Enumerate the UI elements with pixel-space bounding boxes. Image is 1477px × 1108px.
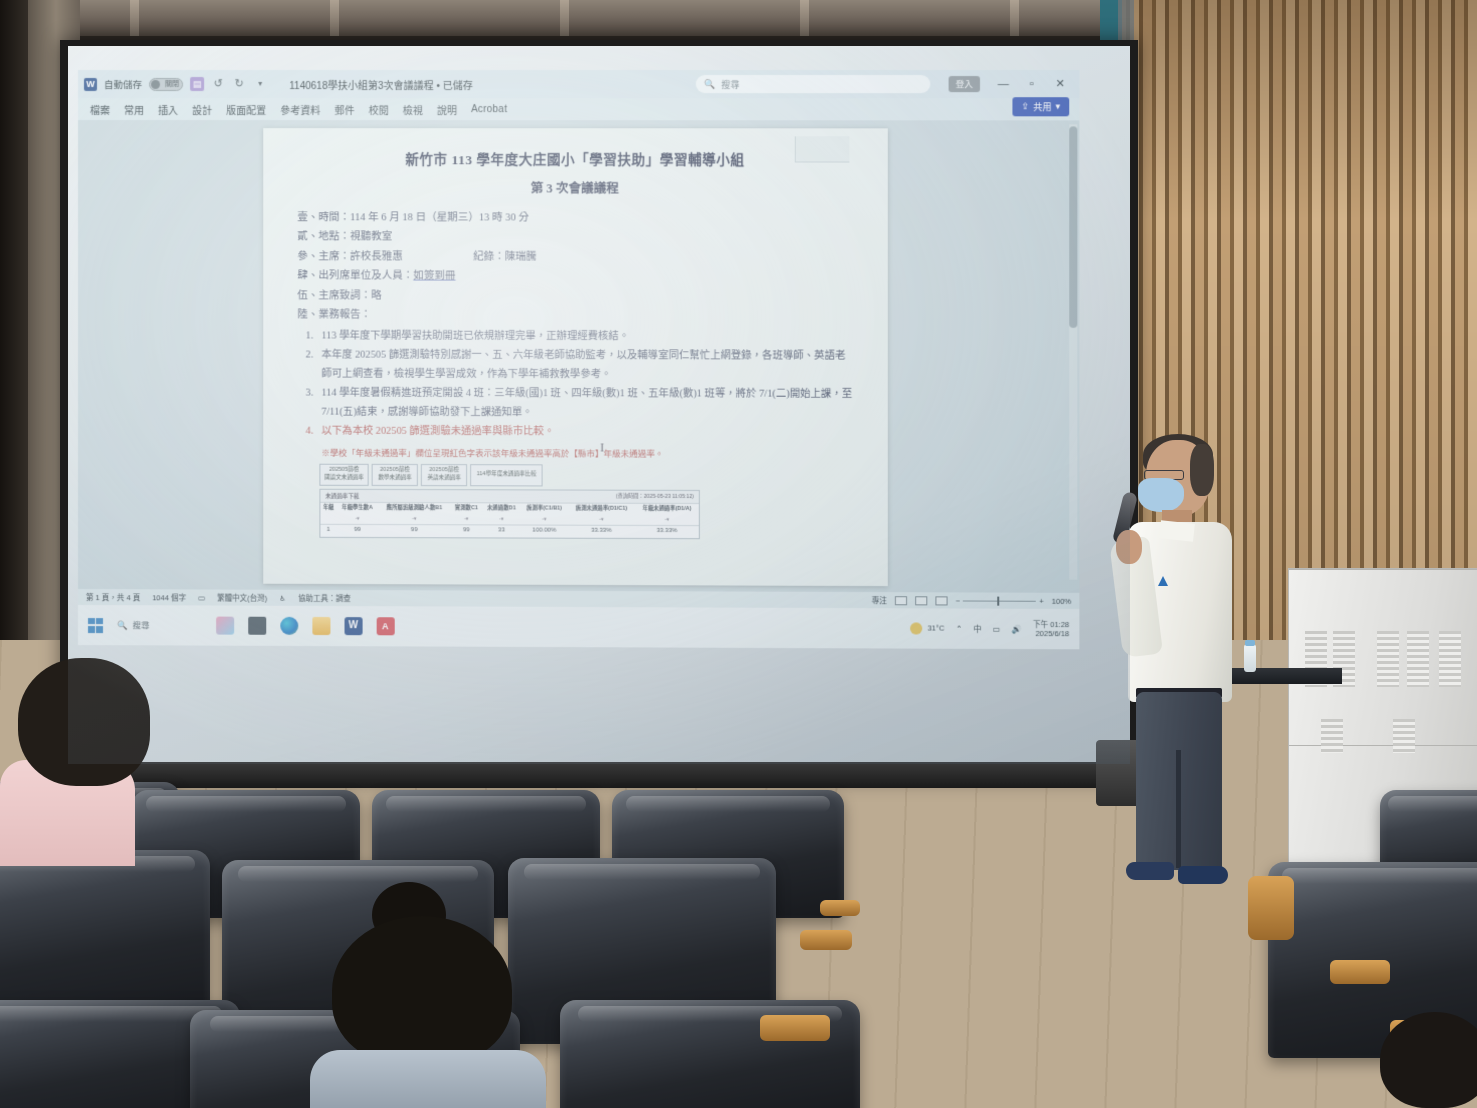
chair <box>0 850 210 1020</box>
redo-icon[interactable]: ↻ <box>232 77 246 91</box>
zoom-in-button[interactable]: + <box>1039 596 1043 605</box>
sun-icon <box>910 622 922 634</box>
filter-cell[interactable]: -▾ <box>337 513 378 524</box>
window-controls[interactable]: 登入 — ▫ ✕ <box>949 74 1074 94</box>
web-layout-view-button[interactable] <box>935 596 947 605</box>
list-item-text: 以下為本校 202505 篩選測驗未通過率與縣市比較。 <box>321 423 853 443</box>
ceiling-beam <box>560 0 569 36</box>
volume-icon[interactable]: 🔊 <box>1012 624 1022 633</box>
line-label: 肆、出列席單位及人員： <box>297 271 413 282</box>
ribbon-tab-references[interactable]: 參考資料 <box>280 102 320 117</box>
chair-armrest <box>760 1015 830 1041</box>
file-explorer-icon[interactable] <box>312 617 330 635</box>
zoom-out-button[interactable]: − <box>956 596 960 605</box>
read-mode-view-button[interactable] <box>895 596 907 605</box>
paint-icon[interactable] <box>216 617 234 635</box>
ceiling-beam <box>800 0 809 36</box>
cell-grade: 1 <box>320 524 336 536</box>
line-value: 114 年 6 月 18 日（星期三）13 時 30 分 <box>350 212 529 223</box>
filter-cell[interactable] <box>320 513 336 524</box>
chevron-down-icon: ▾ <box>1056 101 1061 112</box>
cell-test-rate: 100.00% <box>521 525 568 538</box>
cabinet-edge <box>1289 569 1477 570</box>
print-layout-view-button[interactable] <box>915 596 927 605</box>
ribbon-tab-help[interactable]: 說明 <box>437 102 457 117</box>
left-wall-edge <box>0 0 28 700</box>
save-icon[interactable]: ▤ <box>190 77 204 91</box>
ribbon-tab-layout[interactable]: 版面配置 <box>226 102 266 117</box>
search-input[interactable]: 🔍 搜尋 <box>696 75 931 93</box>
embedded-sheet-tabs[interactable]: 202505篩檢 國語文未通過率 202505篩檢 數學未通過率 202505篩… <box>319 464 853 487</box>
ribbon-tab-home[interactable]: 常用 <box>124 102 144 117</box>
cell-grade-rate: 33.33% <box>635 525 699 538</box>
audience-member-front <box>310 890 540 1108</box>
undo-icon[interactable]: ↺ <box>211 77 225 91</box>
chair-armrest <box>800 930 852 950</box>
audience-member-hair <box>1380 1012 1477 1108</box>
word-icon[interactable]: W <box>344 617 362 635</box>
auditorium-scene: W 自動儲存 關閉 ▤ ↺ ↻ ▾ 1140618學扶小組第3次會議議程 • 已… <box>0 0 1477 1108</box>
line-label: 參、主席： <box>297 251 350 262</box>
share-icon: ⇪ <box>1021 101 1029 112</box>
col-fail-rate: 施測未通過率(D1/C1) <box>568 503 635 514</box>
taskbar-search[interactable]: 🔍 搜尋 <box>117 619 150 631</box>
col-expected: 應所屬班級測驗人數B1 <box>378 503 451 514</box>
bottle-cap <box>1245 640 1255 646</box>
line-right-value: 陳瑞騰 <box>505 251 537 262</box>
filter-cell[interactable]: -▾ <box>635 514 699 525</box>
store-icon[interactable] <box>248 617 266 635</box>
filter-cell[interactable]: -▾ <box>568 514 635 525</box>
windows-taskbar[interactable]: 🔍 搜尋 W A 31°C ⌃ 中 ▭ 🔊 <box>78 605 1079 649</box>
chair-armrest <box>1330 960 1390 984</box>
embedded-spreadsheet[interactable]: 未通過率下載 (查詢時間：2025-05-23 11:05:12) 年級 年級學… <box>319 488 699 539</box>
sheet-tab-chinese[interactable]: 202505篩檢 國語文未通過率 <box>319 464 368 485</box>
word-count[interactable]: 1044 個字 <box>152 592 186 603</box>
projection-screen-bottom-bar <box>60 762 1138 788</box>
ceiling-beam <box>130 0 139 36</box>
accessibility-status[interactable]: 協助工具：調查 <box>298 592 351 603</box>
presenter-collar <box>1159 520 1195 541</box>
rate-table: 年級 年級學生數A 應所屬班級測驗人數B1 實測數C1 未通過數D1 施測率(C… <box>320 502 698 538</box>
document-canvas[interactable]: 新竹市 113 學年度大庄國小「學習扶助」學習輔導小組 第 3 次會議議程 壹、… <box>78 120 1079 593</box>
presenter-shoe-right <box>1178 866 1228 884</box>
col-test-rate: 施測率(C1/B1) <box>521 503 568 514</box>
cabinet-vent <box>1407 631 1429 687</box>
zoom-slider[interactable]: − + <box>956 596 1044 605</box>
cell-failed: 33 <box>482 525 521 537</box>
ribbon-tab-view[interactable]: 檢視 <box>403 102 423 117</box>
document-page[interactable]: 新竹市 113 學年度大庄國小「學習扶助」學習輔導小組 第 3 次會議議程 壹、… <box>263 128 888 586</box>
minimize-button[interactable]: — <box>990 74 1016 94</box>
line-label: 貳、地點： <box>297 232 350 243</box>
ribbon-tab-bar[interactable]: 檔案 常用 插入 設計 版面配置 參考資料 郵件 校閱 檢視 說明 Acroba… <box>78 98 1079 120</box>
audience-member-right <box>1380 1012 1477 1108</box>
list-item-text: 113 學年度下學期學習扶助開班已依規辦理完畢，正辦理經費核結。 <box>321 327 853 347</box>
document-heading: 新竹市 113 學年度大庄國小「學習扶助」學習輔導小組 <box>297 148 853 168</box>
list-item: 2. 本年度 202505 篩選測驗特別感謝一、五、六年級老師協助監考，以及輔導… <box>297 347 853 385</box>
col-failed: 未通過數D1 <box>482 503 521 514</box>
col-students: 年級學生數A <box>337 502 378 513</box>
search-icon: 🔍 <box>704 79 715 90</box>
list-item-text: 114 學年度暑假精進班預定開設 4 班：三年級(國)1 班、四年級(數)1 班… <box>321 385 853 424</box>
document-numbered-list: 1. 113 學年度下學期學習扶助開班已依規辦理完畢，正辦理經費核結。 2. 本… <box>297 327 853 443</box>
taskbar-clock[interactable]: 下午 01:28 2025/6/18 <box>1033 620 1069 638</box>
line-value: 許校長雅惠 <box>350 251 403 262</box>
line-value: 視聽教室 <box>350 232 392 243</box>
presenter-leg-gap <box>1176 750 1181 868</box>
audience-member-hair <box>332 916 512 1066</box>
document-line-attendees: 肆、出列席單位及人員：如簽到冊 <box>297 267 853 287</box>
cabinet-vent <box>1393 719 1415 753</box>
face-mask <box>1138 478 1184 512</box>
language-indicator[interactable]: 繁體中文(台灣) <box>217 592 267 603</box>
filter-cell[interactable]: -▾ <box>482 514 521 525</box>
status-bar-right[interactable]: 專注 − + 100% <box>872 595 1072 607</box>
col-grade-rate: 年級未通過率(D1/A) <box>635 503 699 514</box>
col-grade: 年級 <box>320 502 336 513</box>
audience-member-hair <box>18 658 150 786</box>
list-item-number: 2. <box>297 347 313 384</box>
word-app-icon: W <box>84 78 97 91</box>
list-item-number: 4. <box>297 423 313 442</box>
cell-expected: 99 <box>378 525 451 538</box>
ribbon-tab-design[interactable]: 設計 <box>192 102 212 117</box>
filter-cell[interactable]: -▾ <box>451 514 483 525</box>
document-line-chair: 參、主席：許校長雅惠紀錄：陳瑞騰 <box>297 247 853 267</box>
show-hidden-icons-chevron[interactable]: ⌃ <box>956 624 963 633</box>
projected-desktop: W 自動儲存 關閉 ▤ ↺ ↻ ▾ 1140618學扶小組第3次會議議程 • 已… <box>78 70 1079 649</box>
page-indicator[interactable]: 第 1 頁，共 4 頁 <box>86 592 140 603</box>
search-placeholder: 搜尋 <box>721 78 739 91</box>
ribbon-tab-review[interactable]: 校閱 <box>369 102 389 117</box>
edge-icon[interactable] <box>280 617 298 635</box>
presenter-hand <box>1116 530 1142 564</box>
document-red-note: ※學校「年級未通過率」欄位呈現紅色字表示該年級未通過率高於【縣市】年級未通過率。 <box>321 446 853 460</box>
text-cursor-icon: I <box>600 439 604 455</box>
share-button[interactable]: ⇪ 共用 ▾ <box>1012 97 1069 116</box>
sheet-subtab-bar[interactable]: 未通過率下載 (查詢時間：2025-05-23 11:05:12) <box>320 489 698 503</box>
page-corner-fold <box>795 136 850 162</box>
autosave-label: 自動儲存 <box>104 77 142 91</box>
autosave-state: 關閉 <box>165 79 179 89</box>
list-item: 3. 114 學年度暑假精進班預定開設 4 班：三年級(國)1 班、四年級(數)… <box>297 385 853 424</box>
line-label: 陸、業務報告： <box>297 310 371 321</box>
list-item: 1. 113 學年度下學期學習扶助開班已依規辦理完畢，正辦理經費核結。 <box>297 327 853 347</box>
zoom-track[interactable] <box>963 600 1036 601</box>
line-label: 壹、時間： <box>297 212 350 223</box>
document-line-location: 貳、地點：視聽教室 <box>297 228 853 248</box>
sheet-tab-comparison[interactable]: 114學年度未通過率比較 <box>470 465 542 486</box>
line-right-label: 紀錄： <box>473 251 505 262</box>
proofing-icon[interactable]: ▭ <box>198 593 205 602</box>
ribbon-tab-file[interactable]: 檔案 <box>90 102 110 117</box>
chair-armrest <box>820 900 860 916</box>
document-line-remarks: 伍、主席致詞：略 <box>297 286 853 306</box>
list-item-number: 1. <box>297 327 313 346</box>
more-commands-icon[interactable]: ▾ <box>253 77 267 91</box>
taskbar-app-icons[interactable]: W A <box>216 617 395 636</box>
ribbon-tab-insert[interactable]: 插入 <box>158 102 178 117</box>
clock-date: 2025/6/18 <box>1033 629 1069 638</box>
ribbon-tab-acrobat[interactable]: Acrobat <box>471 104 507 115</box>
autosave-toggle[interactable]: 關閉 <box>149 78 183 91</box>
word-title-bar: W 自動儲存 關閉 ▤ ↺ ↻ ▾ 1140618學扶小組第3次會議議程 • 已… <box>78 70 1079 98</box>
sheet-query-timestamp: (查詢時間：2025-05-23 11:05:12) <box>616 492 694 500</box>
document-line-business-report: 陸、業務報告： <box>297 305 853 326</box>
cabinet-vent <box>1377 631 1399 687</box>
presenter-shoe-left <box>1126 862 1174 880</box>
quick-access-toolbar[interactable]: W 自動儲存 關閉 ▤ ↺ ↻ ▾ <box>84 77 267 91</box>
taskbar-search-placeholder: 搜尋 <box>133 619 150 631</box>
sheet-tab-math[interactable]: 202505篩檢 數學未通過率 <box>372 464 418 485</box>
sign-in-button[interactable]: 登入 <box>949 76 980 92</box>
audience-member-shoulders <box>310 1050 546 1108</box>
presenter-hair-back <box>1190 444 1214 496</box>
cabinet-edge <box>1289 745 1477 746</box>
sheet-download-tab[interactable]: 未通過率下載 <box>325 491 359 499</box>
clock-time: 下午 01:28 <box>1033 620 1069 629</box>
document-line-time: 壹、時間：114 年 6 月 18 日（星期三）13 時 30 分 <box>297 208 853 228</box>
search-icon: 🔍 <box>117 620 128 631</box>
weather-temperature: 31°C <box>927 624 944 633</box>
word-window: W 自動儲存 關閉 ▤ ↺ ↻ ▾ 1140618學扶小組第3次會議議程 • 已… <box>78 70 1079 609</box>
restore-button[interactable]: ▫ <box>1019 74 1045 94</box>
weather-widget[interactable]: 31°C <box>910 622 944 634</box>
filter-cell[interactable]: -▾ <box>378 514 451 525</box>
col-tested: 實測數C1 <box>451 503 483 514</box>
display-icon[interactable]: ▭ <box>993 624 1001 633</box>
acrobat-icon[interactable]: A <box>376 617 394 635</box>
system-tray[interactable]: 31°C ⌃ 中 ▭ 🔊 下午 01:28 2025/6/18 <box>910 619 1069 638</box>
cell-fail-rate: 33.33% <box>568 525 635 538</box>
share-label: 共用 <box>1033 100 1051 113</box>
cabinet-vent <box>1439 631 1461 687</box>
cabinet-vent <box>1321 719 1343 753</box>
focus-mode-button[interactable]: 專注 <box>872 595 887 606</box>
document-scrollbar-thumb[interactable] <box>1069 126 1077 327</box>
ime-indicator[interactable]: 中 <box>974 623 982 634</box>
list-item-text: 本年度 202505 篩選測驗特別感謝一、五、六年級老師協助監考，以及輔導室同仁… <box>321 347 853 385</box>
line-value: 略 <box>371 290 382 301</box>
line-label: 伍、主席致詞： <box>297 290 371 301</box>
ceiling-beam <box>330 0 339 36</box>
document-subheading: 第 3 次會議議程 <box>297 177 853 197</box>
table-row: 1 99 99 99 33 100.00% 33.33% 33.33% <box>320 524 698 538</box>
ribbon-tab-mailings[interactable]: 郵件 <box>334 102 354 117</box>
close-button[interactable]: ✕ <box>1047 74 1073 94</box>
zoom-knob[interactable] <box>998 596 1000 605</box>
sheet-tab-english[interactable]: 202505篩檢 英語未通過率 <box>421 464 467 485</box>
list-item-number: 3. <box>297 385 313 422</box>
cell-students: 99 <box>337 524 378 536</box>
cell-tested: 99 <box>451 525 483 537</box>
autosave-toggle-knob <box>151 80 160 89</box>
chair-armrest <box>1248 876 1294 940</box>
document-filename[interactable]: 1140618學扶小組第3次會議議程 • 已儲存 <box>289 77 473 92</box>
line-value: 如簽到冊 <box>413 271 455 282</box>
windows-start-icon[interactable] <box>88 618 103 633</box>
presenter <box>1110 430 1250 920</box>
ceiling-beam <box>1010 0 1019 36</box>
accessibility-icon[interactable]: ♿ <box>279 593 286 602</box>
list-item: 4. 以下為本校 202505 篩選測驗未通過率與縣市比較。 <box>297 423 853 443</box>
zoom-level[interactable]: 100% <box>1052 596 1071 605</box>
filter-cell[interactable]: -▾ <box>521 514 568 525</box>
